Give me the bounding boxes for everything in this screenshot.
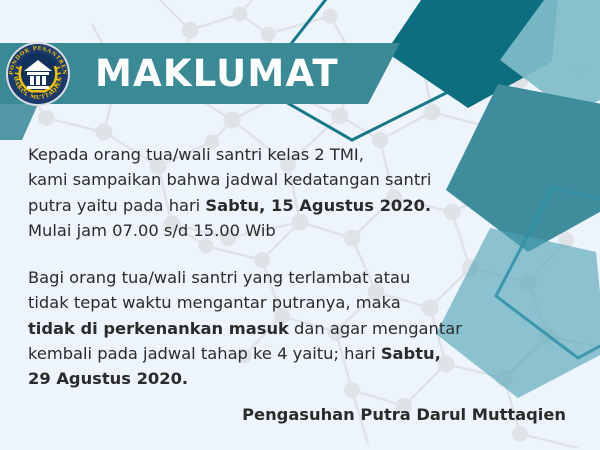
- p1-line-3-plain: putra yaitu pada hari: [28, 196, 205, 215]
- p2-line-1: Bagi orang tua/wali santri yang terlamba…: [28, 268, 410, 287]
- p1-line-1: Kepada orang tua/wali santri kelas 2 TMI…: [28, 145, 364, 164]
- p2-line-3-plain: dan agar mengantar: [289, 319, 462, 338]
- page-title: MAKLUMAT: [95, 43, 395, 104]
- announcement-body: Kepada orang tua/wali santri kelas 2 TMI…: [28, 142, 488, 392]
- institution-logo: PONDOK PESANTREN DARUL MUTTAQIEN: [3, 38, 73, 108]
- paragraph-1: Kepada orang tua/wali santri kelas 2 TMI…: [28, 142, 488, 244]
- p1-line-4: Mulai jam 07.00 s/d 15.00 Wib: [28, 221, 276, 240]
- p2-line-4-bold: Sabtu,: [381, 344, 441, 363]
- p2-line-3-bold: tidak di perkenankan masuk: [28, 319, 289, 338]
- p2-line-4-plain: kembali pada jadwal tahap ke 4 yaitu; ha…: [28, 344, 381, 363]
- signature-line: Pengasuhan Putra Darul Muttaqien: [0, 405, 566, 424]
- announcement-poster: MAKLUMAT: [0, 0, 600, 450]
- p1-line-3-bold: Sabtu, 15 Agustus 2020.: [205, 196, 431, 215]
- paragraph-2: Bagi orang tua/wali santri yang terlamba…: [28, 265, 488, 392]
- p2-line-2: tidak tepat waktu mengantar putranya, ma…: [28, 293, 401, 312]
- p1-line-2: kami sampaikan bahwa jadwal kedatangan s…: [28, 170, 431, 189]
- p2-line-5-bold: 29 Agustus 2020.: [28, 369, 188, 388]
